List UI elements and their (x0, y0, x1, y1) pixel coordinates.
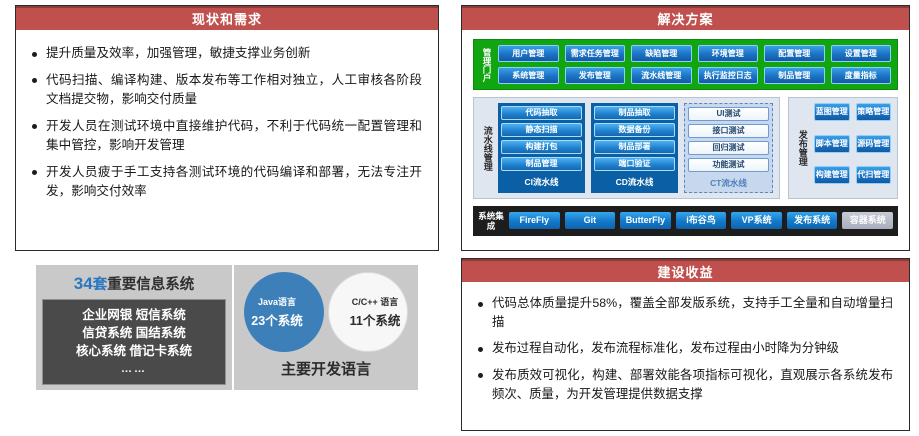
portal-chip[interactable]: 设置管理 (831, 45, 892, 62)
portal-chip[interactable]: 度量指标 (831, 67, 892, 84)
systems-unit: 套 (93, 277, 108, 293)
systems-ellipsis: …… (121, 360, 147, 378)
list-item: 代码总体质量提升58%，覆盖全部发版系统，支持手工全量和自动增量扫描 (476, 294, 893, 332)
pipeline-step[interactable]: 代码抽取 (501, 106, 582, 120)
pipeline-step[interactable]: 制品管理 (501, 157, 582, 171)
portal-chip[interactable]: 需求任务管理 (565, 45, 626, 62)
integration-chip[interactable]: Git (565, 212, 616, 229)
release-chip[interactable]: 蓝图管理 (814, 103, 850, 121)
panel-solution-title: 解决方案 (462, 6, 909, 30)
portal-chip[interactable]: 流水线管理 (631, 67, 692, 84)
release-chip[interactable]: 代扫管理 (856, 166, 892, 184)
important-systems-block: 34套重要信息系统 企业网银 短信系统 信贷系统 国结系统 核心系统 借记卡系统… (36, 265, 232, 390)
venn-caption: 主要开发语言 (281, 358, 371, 379)
pipeline-columns: 代码抽取 静态扫描 构建打包 制品管理 CI流水线 制品抽取 数据备份 制品部署… (494, 103, 773, 193)
portal-chip[interactable]: 配置管理 (764, 45, 825, 62)
panel-current-situation: 现状和需求 提升质量及效率，加强管理，敏捷支撑业务创新 代码扫描、编译构建、版本… (15, 5, 439, 251)
pipeline-column-ct: UI测试 接口测试 回归测试 功能测试 CT流水线 (684, 103, 773, 193)
portal-chip[interactable]: 执行监控日志 (698, 67, 759, 84)
release-management-label: 发布管理 (795, 103, 809, 193)
management-portal-label: 管理门户 (480, 45, 493, 84)
list-item: 核心系统 借记卡系统 (76, 342, 192, 360)
pipeline-step[interactable]: 端口验证 (594, 157, 675, 171)
panel-benefits-body: 代码总体质量提升58%，覆盖全部发版系统，支持手工全量和自动增量扫描 发布过程自… (462, 282, 909, 417)
pipeline-step[interactable]: 制品部署 (594, 140, 675, 154)
architecture-middle-row: 流水线管理 代码抽取 静态扫描 构建打包 制品管理 CI流水线 制品抽取 数据 (473, 97, 898, 199)
system-integration-items: FireFly Git ButterFly i布谷鸟 VP系统 发布系统 容器系… (509, 212, 893, 229)
list-item: 开发人员疲于手工支持各测试环境的代码编译和部署，无法专注开发，影响交付效率 (30, 163, 422, 202)
list-item: 代码扫描、编译构建、版本发布等工作相对独立，人工审核各阶段文档提交物，影响交付质… (30, 71, 422, 110)
venn-java-label: Java语言 (258, 295, 296, 308)
venn-cpp-value: 11个系统 (350, 310, 401, 329)
integration-chip[interactable]: 发布系统 (787, 212, 838, 229)
release-chip[interactable]: 脚本管理 (814, 135, 850, 153)
pipeline-column-ci: 代码抽取 静态扫描 构建打包 制品管理 CI流水线 (498, 103, 585, 193)
pipeline-management-label-text: 流水线管理 (482, 126, 491, 171)
pipeline-management-box: 流水线管理 代码抽取 静态扫描 构建打包 制品管理 CI流水线 制品抽取 数据 (473, 97, 780, 199)
pipeline-step[interactable]: 制品抽取 (594, 106, 675, 120)
list-item: 提升质量及效率，加强管理，敏捷支撑业务创新 (30, 44, 422, 64)
venn-cpp-label: C/C++ 语言 (352, 295, 399, 308)
management-portal-label-text: 管理门户 (482, 48, 491, 82)
release-chip[interactable]: 策略管理 (856, 103, 892, 121)
portal-chip[interactable]: 发布管理 (565, 67, 626, 84)
portal-chip[interactable]: 用户管理 (498, 45, 559, 62)
system-integration-strip: 系统集成 FireFly Git ButterFly i布谷鸟 VP系统 发布系… (473, 206, 898, 236)
venn-diagram: C/C++ 语言 11个系统 Java语言 23个系统 (244, 272, 408, 352)
panel-current-situation-body: 提升质量及效率，加强管理，敏捷支撑业务创新 代码扫描、编译构建、版本发布等工作相… (16, 30, 438, 215)
panel-benefits-title: 建设收益 (462, 259, 909, 282)
benefits-bullet-list: 代码总体质量提升58%，覆盖全部发版系统，支持手工全量和自动增量扫描 发布过程自… (476, 294, 893, 404)
list-item: 发布质效可视化，构建、部署效能各项指标可视化，直观展示各系统发布频次、质量，为开… (476, 366, 893, 404)
pipeline-column-caption: CD流水线 (594, 174, 675, 188)
venn-circle-java: Java语言 23个系统 (244, 272, 324, 352)
integration-chip[interactable]: FireFly (509, 212, 560, 229)
pipeline-step[interactable]: 接口测试 (688, 124, 769, 138)
pipeline-column-cd: 制品抽取 数据备份 制品部署 端口验证 CD流水线 (591, 103, 678, 193)
list-item: 企业网银 短信系统 (82, 306, 185, 324)
pipeline-column-caption: CT流水线 (688, 175, 769, 189)
portal-chip[interactable]: 系统管理 (498, 67, 559, 84)
management-portal-grid: 用户管理 需求任务管理 缺陷管理 环境管理 配置管理 设置管理 系统管理 发布管… (498, 45, 891, 84)
venn-circle-cpp: C/C++ 语言 11个系统 (328, 272, 408, 352)
system-integration-label: 系统集成 (478, 210, 504, 232)
panel-solution: 解决方案 管理门户 用户管理 需求任务管理 缺陷管理 环境管理 配置管理 设置管… (461, 5, 910, 251)
venn-java-value: 23个系统 (251, 310, 302, 329)
list-item: 发布过程自动化，发布流程标准化，发布过程由小时降为分钟级 (476, 339, 893, 358)
list-item: 开发人员在测试环境中直接维护代码，不利于代码统一配置管理和集中管控，影响开发管理 (30, 117, 422, 156)
pipeline-step[interactable]: UI测试 (688, 107, 769, 121)
integration-chip[interactable]: i布谷鸟 (676, 212, 727, 229)
release-management-box: 发布管理 蓝图管理 策略管理 脚本管理 源码管理 构建管理 代扫管理 (788, 97, 898, 199)
release-chip[interactable]: 构建管理 (814, 166, 850, 184)
pipeline-step[interactable]: 功能测试 (688, 158, 769, 172)
pipeline-step[interactable]: 回归测试 (688, 141, 769, 155)
management-portal-band: 管理门户 用户管理 需求任务管理 缺陷管理 环境管理 配置管理 设置管理 系统管… (473, 39, 898, 90)
release-management-label-text: 发布管理 (797, 130, 806, 166)
pipeline-step[interactable]: 数据备份 (594, 123, 675, 137)
portal-chip[interactable]: 环境管理 (698, 45, 759, 62)
release-chip[interactable]: 源码管理 (856, 135, 892, 153)
systems-name-box: 企业网银 短信系统 信贷系统 国结系统 核心系统 借记卡系统 …… (42, 299, 226, 385)
portal-chip[interactable]: 制品管理 (764, 67, 825, 84)
systems-count: 34 (74, 274, 93, 293)
panel-benefits: 建设收益 代码总体质量提升58%，覆盖全部发版系统，支持手工全量和自动增量扫描 … (461, 258, 910, 431)
pipeline-step[interactable]: 静态扫描 (501, 123, 582, 137)
panel-current-situation-title: 现状和需求 (16, 6, 438, 30)
panel-solution-body: 管理门户 用户管理 需求任务管理 缺陷管理 环境管理 配置管理 设置管理 系统管… (462, 30, 909, 244)
integration-chip[interactable]: 容器系统 (842, 212, 893, 229)
pipeline-management-label: 流水线管理 (480, 103, 494, 193)
language-venn-block: C/C++ 语言 11个系统 Java语言 23个系统 主要开发语言 (232, 265, 418, 390)
pipeline-column-caption: CI流水线 (501, 174, 582, 188)
list-item: 信贷系统 国结系统 (82, 324, 185, 342)
integration-chip[interactable]: ButterFly (620, 212, 671, 229)
portal-chip[interactable]: 缺陷管理 (631, 45, 692, 62)
systems-title-rest: 重要信息系统 (107, 277, 194, 293)
pipeline-step[interactable]: 构建打包 (501, 140, 582, 154)
slide-canvas: 现状和需求 提升质量及效率，加强管理，敏捷支撑业务创新 代码扫描、编译构建、版本… (0, 0, 919, 436)
release-management-grid: 蓝图管理 策略管理 脚本管理 源码管理 构建管理 代扫管理 (809, 103, 891, 193)
current-situation-bullet-list: 提升质量及效率，加强管理，敏捷支撑业务创新 代码扫描、编译构建、版本发布等工作相… (30, 44, 422, 202)
integration-chip[interactable]: VP系统 (731, 212, 782, 229)
systems-overview-graphic: 34套重要信息系统 企业网银 短信系统 信贷系统 国结系统 核心系统 借记卡系统… (36, 265, 418, 390)
important-systems-title: 34套重要信息系统 (42, 273, 226, 294)
